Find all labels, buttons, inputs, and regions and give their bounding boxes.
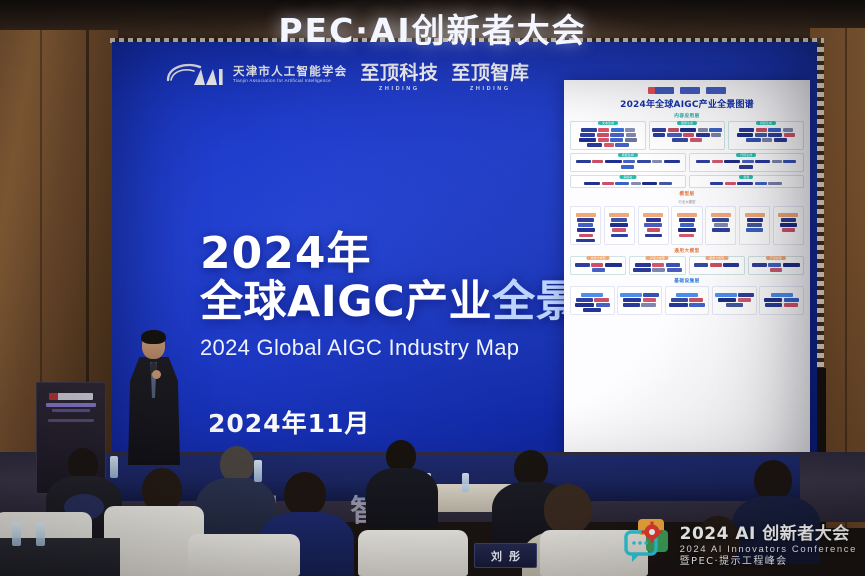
banner-footer-line xyxy=(48,419,94,422)
venue-banner: PEC·AI创新者大会 xyxy=(0,4,865,52)
speaker-hand xyxy=(152,370,161,379)
event-watermark: 2024 AI 创新者大会 2024 AI Innovators Confere… xyxy=(680,525,857,568)
gear-chat-bubble-icon xyxy=(622,518,672,566)
name-placard-text: 刘彤 xyxy=(484,548,527,564)
banner-logo xyxy=(49,393,93,400)
watermark-subtitle-cn: 暨PEC·提示工程峰会 xyxy=(680,556,857,569)
head xyxy=(754,460,792,500)
head xyxy=(220,446,254,482)
led-strip-right xyxy=(816,38,824,368)
conference-photo: PEC·AI创新者大会 天津市人工智能学会 T xyxy=(0,0,865,576)
chair xyxy=(358,530,468,576)
head xyxy=(544,484,592,534)
speaker-hair xyxy=(141,330,166,344)
banner-headline xyxy=(46,403,96,407)
water-bottle xyxy=(110,456,118,478)
name-placard: 刘彤 xyxy=(474,543,537,568)
head xyxy=(284,472,326,516)
water-bottle xyxy=(254,460,262,482)
venue-banner-text: PEC·AI创新者大会 xyxy=(278,11,586,50)
water-bottle xyxy=(36,522,45,546)
watermark-title-cn: 2024 AI 创新者大会 xyxy=(680,525,857,544)
chair xyxy=(188,534,300,576)
head xyxy=(514,450,548,486)
torso xyxy=(366,468,438,528)
water-bottle xyxy=(12,522,21,546)
watermark-title-en: 2024 AI Innovators Conference xyxy=(680,544,857,555)
banner-subline xyxy=(52,409,90,412)
